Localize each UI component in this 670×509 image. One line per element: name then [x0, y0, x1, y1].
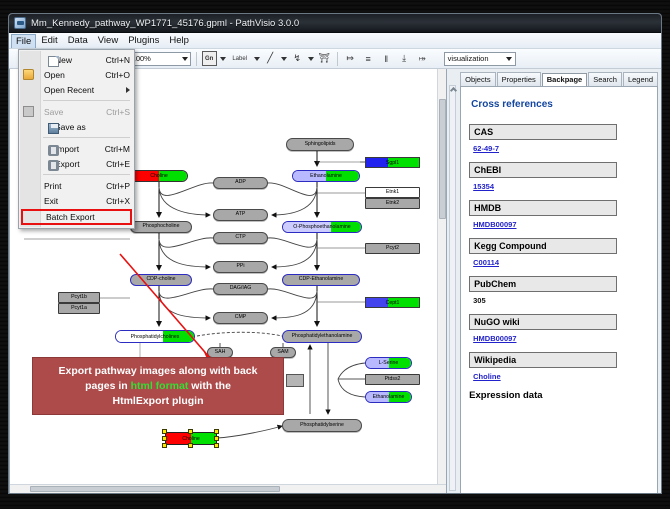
xref-header: Kegg Compound [469, 238, 616, 254]
tab-legend[interactable]: Legend [623, 72, 658, 86]
selection-handle[interactable] [162, 436, 167, 441]
xref-link[interactable]: 15354 [473, 182, 649, 191]
side-panel: Objects Properties Backpage Search Legen… [447, 69, 661, 494]
node-ethanolamine-top[interactable]: Ethanolamine [292, 170, 360, 182]
xref-block-kegg-compound: Kegg Compound C00114 [469, 238, 649, 267]
node-cmp[interactable]: CMP [213, 312, 268, 324]
node-label: CTP [235, 235, 245, 240]
xref-header: Wikipedia [469, 352, 616, 368]
selection-handle[interactable] [214, 436, 219, 441]
node-label: Sphingolipids [305, 142, 336, 147]
gene-label: Pcyt2 [386, 246, 399, 251]
xref-header: NuGO wiki [469, 314, 616, 330]
gene-product-chevron-down-icon[interactable] [220, 57, 226, 61]
callout-line-2-post: with the [188, 380, 231, 392]
xref-block-nugo-wiki: NuGO wiki HMDB00097 [469, 314, 649, 343]
node-phosphocholine[interactable]: Phosphocholine [130, 221, 192, 233]
xref-header: ChEBI [469, 162, 616, 178]
cross-references-heading: Cross references [471, 99, 649, 110]
side-panel-tabs: Objects Properties Backpage Search Legen… [451, 72, 658, 86]
selection-handle[interactable] [188, 443, 193, 448]
selection-handle[interactable] [214, 443, 219, 448]
node-atp[interactable]: ATP [213, 209, 268, 221]
save-icon [23, 106, 34, 117]
file-menu-item-save-as[interactable]: Save as [19, 119, 134, 134]
node-sphingolipids[interactable]: Sphingolipids [286, 138, 354, 151]
node-o-phosphoethanolamine[interactable]: O-Phosphoethanolamine [282, 221, 362, 233]
menu-view[interactable]: View [93, 33, 123, 48]
backpage-content: Cross references CAS 62-49-7 ChEBI 15354… [460, 86, 658, 494]
line-chevron-down-icon[interactable] [281, 57, 287, 61]
selection-handle[interactable] [188, 429, 193, 434]
visualization-value: visualization [448, 54, 489, 63]
open-folder-icon [23, 69, 34, 80]
node-label: Phosphocholine [143, 224, 180, 229]
file-menu-item-export[interactable]: Export Ctrl+E [19, 156, 134, 171]
gene-sgpl1[interactable]: Sgpl1 [365, 157, 420, 168]
selection-handle[interactable] [162, 429, 167, 434]
toolbar-separator-2 [337, 52, 338, 66]
node-label: CMP [235, 315, 247, 320]
file-menu-accel: Ctrl+S [106, 107, 130, 117]
file-menu-item-exit[interactable]: Exit Ctrl+X [19, 193, 134, 208]
callout-line-2-pre: pages in [85, 380, 131, 392]
node-dag-iag[interactable]: DAG/IAG [213, 283, 268, 295]
node-label: Ethanolamine [373, 394, 405, 400]
node-label: CDP-choline [146, 277, 175, 282]
gene-label: Sgpl1 [386, 160, 399, 166]
xref-link[interactable]: HMDB00097 [473, 220, 649, 229]
node-label: O-Phosphoethanolamine [293, 224, 350, 230]
xref-link[interactable]: Choline [473, 372, 649, 381]
align-bottom-icon[interactable]: ⤓ [397, 51, 412, 66]
node-cdp-ethanolamine[interactable]: CDP-Ethanolamine [282, 274, 360, 286]
import-icon [48, 145, 59, 156]
file-menu-accel: Ctrl+M [105, 144, 130, 154]
file-menu-accel: Ctrl+O [105, 70, 130, 80]
file-menu-item-open-recent[interactable]: Open Recent [19, 82, 134, 97]
label-tool-icon[interactable]: Label [229, 51, 251, 66]
xref-block-chebi: ChEBI 15354 [469, 162, 649, 191]
node-label: ATP [236, 212, 246, 217]
save-as-icon [48, 123, 59, 134]
node-ctp[interactable]: CTP [213, 232, 268, 244]
xref-link[interactable]: HMDB00097 [473, 334, 649, 343]
node-phosphatidylcholines[interactable]: Phosphatidylcholines [115, 330, 195, 343]
visualization-chevron-down-icon [506, 57, 512, 61]
node-label: PPi [236, 264, 244, 269]
node-label: DAG/IAG [230, 286, 252, 291]
file-menu-item-save: Save Ctrl+S [19, 104, 134, 119]
node-choline-top[interactable]: Choline [130, 170, 188, 182]
align-columns-icon[interactable]: ‖ [379, 51, 394, 66]
file-menu-item-new[interactable]: New Ctrl+N [19, 52, 134, 67]
menu-plugins[interactable]: Plugins [123, 33, 164, 48]
gene-label: Etnk1 [386, 190, 399, 195]
file-menu-separator-3 [43, 174, 130, 175]
tab-properties[interactable]: Properties [497, 72, 541, 86]
file-menu-label: Batch Export [46, 212, 95, 222]
pathvisio-icon [14, 17, 26, 29]
file-menu-label: Print [44, 181, 61, 191]
new-document-icon [48, 56, 59, 67]
window-title: Mm_Kennedy_pathway_WP1771_45176.gpml - P… [31, 18, 299, 29]
file-menu-separator-2 [43, 137, 130, 138]
node-ppi[interactable]: PPi [213, 261, 268, 273]
node-phosphatidylserine[interactable]: Phosphatidylserine [282, 419, 362, 432]
tab-search[interactable]: Search [588, 72, 622, 86]
file-menu-accel: Ctrl+X [106, 196, 130, 206]
callout-box: Export pathway images along with back pa… [32, 357, 284, 415]
align-center-icon[interactable]: ≡ [361, 51, 376, 66]
gene-pcyt2[interactable]: Pcyt2 [365, 243, 420, 254]
toolbar-separator [196, 52, 197, 66]
node-label: Phosphatidylcholines [131, 334, 180, 340]
canvas-vertical-scroll-thumb[interactable] [439, 99, 446, 219]
file-menu-item-print[interactable]: Print Ctrl+P [19, 178, 134, 193]
zoom-combobox[interactable]: 100% [128, 52, 191, 66]
gene-etnk2[interactable]: Etnk2 [365, 198, 420, 209]
selection-handle[interactable] [214, 429, 219, 434]
canvas-horizontal-scrollbar[interactable] [10, 484, 446, 493]
node-label: ADP [235, 180, 246, 185]
pathvisio-window: Mm_Kennedy_pathway_WP1771_45176.gpml - P… [8, 13, 662, 494]
menu-bar: File Edit Data View Plugins Help [9, 33, 661, 49]
file-menu-label: Open [44, 70, 65, 80]
xref-block-wikipedia: Wikipedia Choline [469, 352, 649, 381]
line-tool-icon[interactable]: ╱ [263, 51, 278, 66]
menu-data[interactable]: Data [63, 33, 93, 48]
gene-label: Ptdss2 [385, 377, 401, 382]
anchor-block [286, 374, 304, 387]
node-ethanolamine-bottom[interactable]: Ethanolamine [365, 391, 412, 403]
node-label: Choline [150, 173, 168, 179]
xref-link[interactable]: 62-49-7 [473, 144, 649, 153]
gene-pcyt1b[interactable]: Pcyt1b [58, 292, 100, 303]
callout-line-2-highlight: html format [131, 380, 189, 392]
xref-link[interactable]: C00114 [473, 258, 649, 267]
align-left-icon[interactable]: ⤇ [343, 51, 358, 66]
anchor-tool-icon[interactable]: ⛩ [317, 51, 332, 66]
file-menu-accel: Ctrl+N [106, 55, 130, 65]
file-menu-item-import[interactable]: Import Ctrl+M [19, 141, 134, 156]
gene-etnk1[interactable]: Etnk1 [365, 187, 420, 198]
file-menu-accel: Ctrl+P [106, 181, 130, 191]
xref-block-cas: CAS 62-49-7 [469, 124, 649, 153]
canvas-horizontal-scroll-thumb[interactable] [30, 486, 280, 492]
node-label: CDP-Ethanolamine [299, 277, 343, 282]
node-cdp-choline[interactable]: CDP-choline [130, 274, 192, 286]
gene-cept1[interactable]: Cept1 [365, 297, 420, 308]
menu-edit[interactable]: Edit [36, 33, 62, 48]
screenshot-root: Mm_Kennedy_pathway_WP1771_45176.gpml - P… [0, 0, 670, 509]
tab-backpage[interactable]: Backpage [542, 73, 587, 87]
file-menu-accel: Ctrl+E [106, 159, 130, 169]
menu-file[interactable]: File [11, 34, 36, 48]
label-chevron-down-icon[interactable] [254, 57, 260, 61]
node-l-serine[interactable]: L-Serine [365, 357, 412, 369]
node-adp[interactable]: ADP [213, 177, 268, 189]
file-menu-item-batch-export[interactable]: Batch Export [21, 209, 132, 225]
panel-collapse-handle[interactable] [449, 85, 456, 491]
node-label: SAH [215, 350, 226, 355]
node-label: L-Serine [379, 360, 399, 366]
node-phosphatidylethanolamine[interactable]: Phosphatidylethanolamine [282, 330, 362, 343]
callout-line-1: Export pathway images along with back [59, 365, 258, 377]
xref-block-hmdb: HMDB HMDB00097 [469, 200, 649, 229]
file-menu-separator [43, 100, 130, 101]
node-label: Ethanolamine [310, 173, 342, 179]
xref-header: PubChem [469, 276, 616, 292]
callout-line-3: HtmlExport plugin [113, 395, 204, 407]
menu-help[interactable]: Help [164, 33, 194, 48]
file-menu-dropdown[interactable]: New Ctrl+N Open Ctrl+O Open Recent Save … [18, 49, 135, 229]
align-right-icon[interactable]: ⤅ [415, 51, 430, 66]
xref-value: 305 [473, 296, 649, 305]
file-menu-label: Open Recent [44, 85, 94, 95]
xref-header: HMDB [469, 200, 616, 216]
file-menu-label: Exit [44, 196, 58, 206]
expression-data-heading: Expression data [469, 390, 649, 401]
selection-handle[interactable] [162, 443, 167, 448]
node-label: Choline [182, 436, 200, 442]
file-menu-label: Save [44, 107, 63, 117]
gene-label: Pcyt1a [71, 306, 87, 311]
interaction-chevron-down-icon[interactable] [308, 57, 314, 61]
file-menu-label: Save as [55, 122, 86, 132]
submenu-chevron-right-icon [126, 87, 130, 93]
gene-label: Pcyt1b [71, 295, 87, 300]
node-label: SAM [277, 350, 288, 355]
gene-label: Cept1 [386, 300, 400, 306]
chevron-down-icon [182, 57, 188, 61]
gene-product-icon[interactable]: Gn [202, 51, 217, 66]
tab-objects[interactable]: Objects [460, 72, 495, 86]
xref-header: CAS [469, 124, 616, 140]
gene-ptdss2[interactable]: Ptdss2 [365, 374, 420, 385]
canvas-vertical-scrollbar[interactable] [437, 69, 446, 493]
gene-label: Etnk2 [386, 201, 399, 206]
gene-pcyt1a[interactable]: Pcyt1a [58, 303, 100, 314]
visualization-combobox[interactable]: visualization [444, 52, 516, 66]
node-label: Phosphatidylserine [300, 423, 344, 428]
file-menu-item-open[interactable]: Open Ctrl+O [19, 67, 134, 82]
xref-block-pubchem: PubChem 305 [469, 276, 649, 305]
interaction-tool-icon[interactable]: ↯ [290, 51, 305, 66]
title-bar: Mm_Kennedy_pathway_WP1771_45176.gpml - P… [9, 14, 661, 33]
node-label: Phosphatidylethanolamine [292, 334, 353, 339]
export-icon [48, 160, 59, 171]
